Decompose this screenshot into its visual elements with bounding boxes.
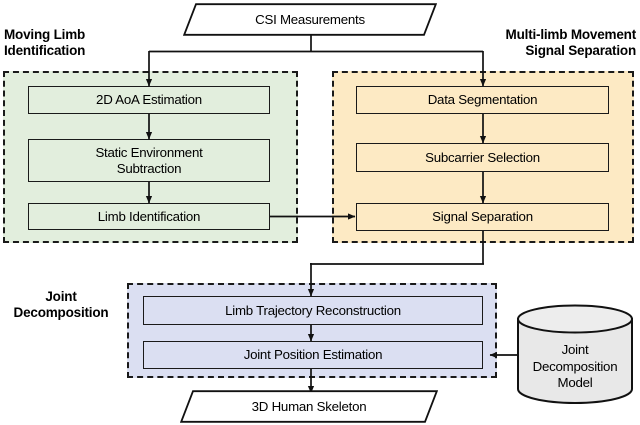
datastore-joint-decomposition-model[interactable]: Joint Decomposition Model bbox=[516, 304, 634, 404]
group-label-line1: Multi-limb Movement bbox=[404, 27, 636, 43]
process-label-line2: Subtraction bbox=[117, 161, 182, 177]
process-static-environment-subtraction[interactable]: Static Environment Subtraction bbox=[28, 139, 270, 182]
process-2d-aoa-estimation[interactable]: 2D AoA Estimation bbox=[28, 86, 270, 114]
process-label: Subcarrier Selection bbox=[425, 150, 540, 166]
io-node-3d-human-skeleton: 3D Human Skeleton bbox=[180, 390, 438, 423]
process-data-segmentation[interactable]: Data Segmentation bbox=[356, 86, 609, 114]
io-label-3d-human-skeleton: 3D Human Skeleton bbox=[252, 399, 367, 414]
group-label-line2: Identification bbox=[4, 43, 204, 59]
io-label-csi-measurements: CSI Measurements bbox=[255, 12, 365, 27]
datastore-label-line1: Joint bbox=[516, 342, 634, 359]
group-label-line2: Decomposition bbox=[0, 305, 122, 321]
process-label-line1: Static Environment bbox=[95, 145, 202, 161]
group-label-line1: Moving Limb bbox=[4, 27, 204, 43]
group-label-line2: Signal Separation bbox=[404, 43, 636, 59]
process-label: Signal Separation bbox=[432, 209, 533, 225]
process-limb-identification[interactable]: Limb Identification bbox=[28, 203, 270, 230]
process-label: Limb Trajectory Reconstruction bbox=[225, 303, 401, 319]
group-label-moving-limb-identification: Moving Limb Identification bbox=[4, 27, 204, 58]
process-limb-trajectory-reconstruction[interactable]: Limb Trajectory Reconstruction bbox=[143, 296, 483, 325]
process-label: Data Segmentation bbox=[428, 92, 538, 108]
process-label: Limb Identification bbox=[98, 209, 200, 225]
process-signal-separation[interactable]: Signal Separation bbox=[356, 203, 609, 231]
group-label-line1: Joint bbox=[0, 289, 122, 305]
flowchart-canvas: CSI Measurements Moving Limb Identificat… bbox=[0, 0, 640, 425]
process-joint-position-estimation[interactable]: Joint Position Estimation bbox=[143, 341, 483, 369]
datastore-label-line3: Model bbox=[516, 375, 634, 392]
datastore-label-line2: Decomposition bbox=[516, 359, 634, 376]
process-label: 2D AoA Estimation bbox=[96, 92, 202, 108]
group-label-joint-decomposition: Joint Decomposition bbox=[0, 289, 122, 320]
io-node-csi-measurements: CSI Measurements bbox=[183, 3, 437, 36]
group-label-multi-limb-movement-signal-separation: Multi-limb Movement Signal Separation bbox=[404, 27, 636, 58]
process-subcarrier-selection[interactable]: Subcarrier Selection bbox=[356, 143, 609, 172]
process-label: Joint Position Estimation bbox=[244, 347, 383, 363]
